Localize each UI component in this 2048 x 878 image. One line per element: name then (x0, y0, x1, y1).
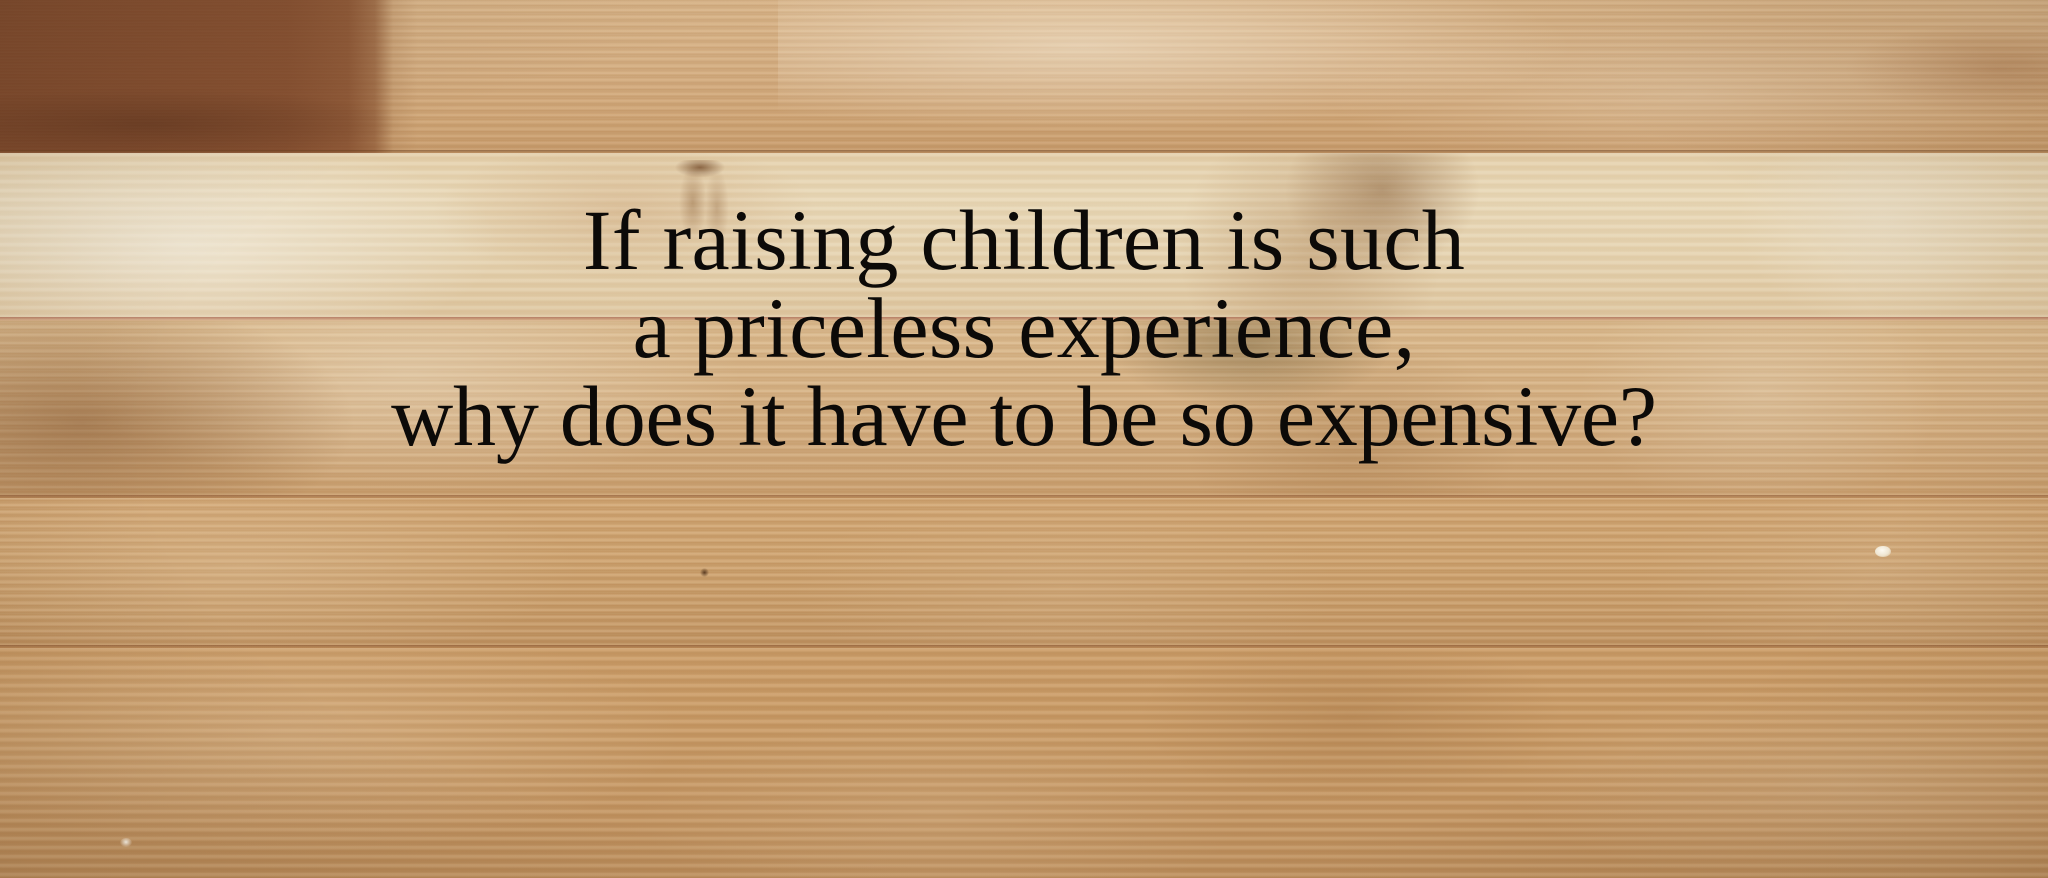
wood-plank-4 (0, 498, 2048, 648)
quote-text-block: If raising children is such a priceless … (0, 196, 2048, 460)
wooden-sign-image: If raising children is such a priceless … (0, 0, 2048, 878)
quote-line-2: a priceless experience, (0, 284, 2048, 372)
wood-plank-1 (0, 0, 2048, 153)
quote-line-3: why does it have to be so expensive? (0, 372, 2048, 460)
quote-line-1: If raising children is such (0, 196, 2048, 284)
wood-plank-5 (0, 648, 2048, 878)
